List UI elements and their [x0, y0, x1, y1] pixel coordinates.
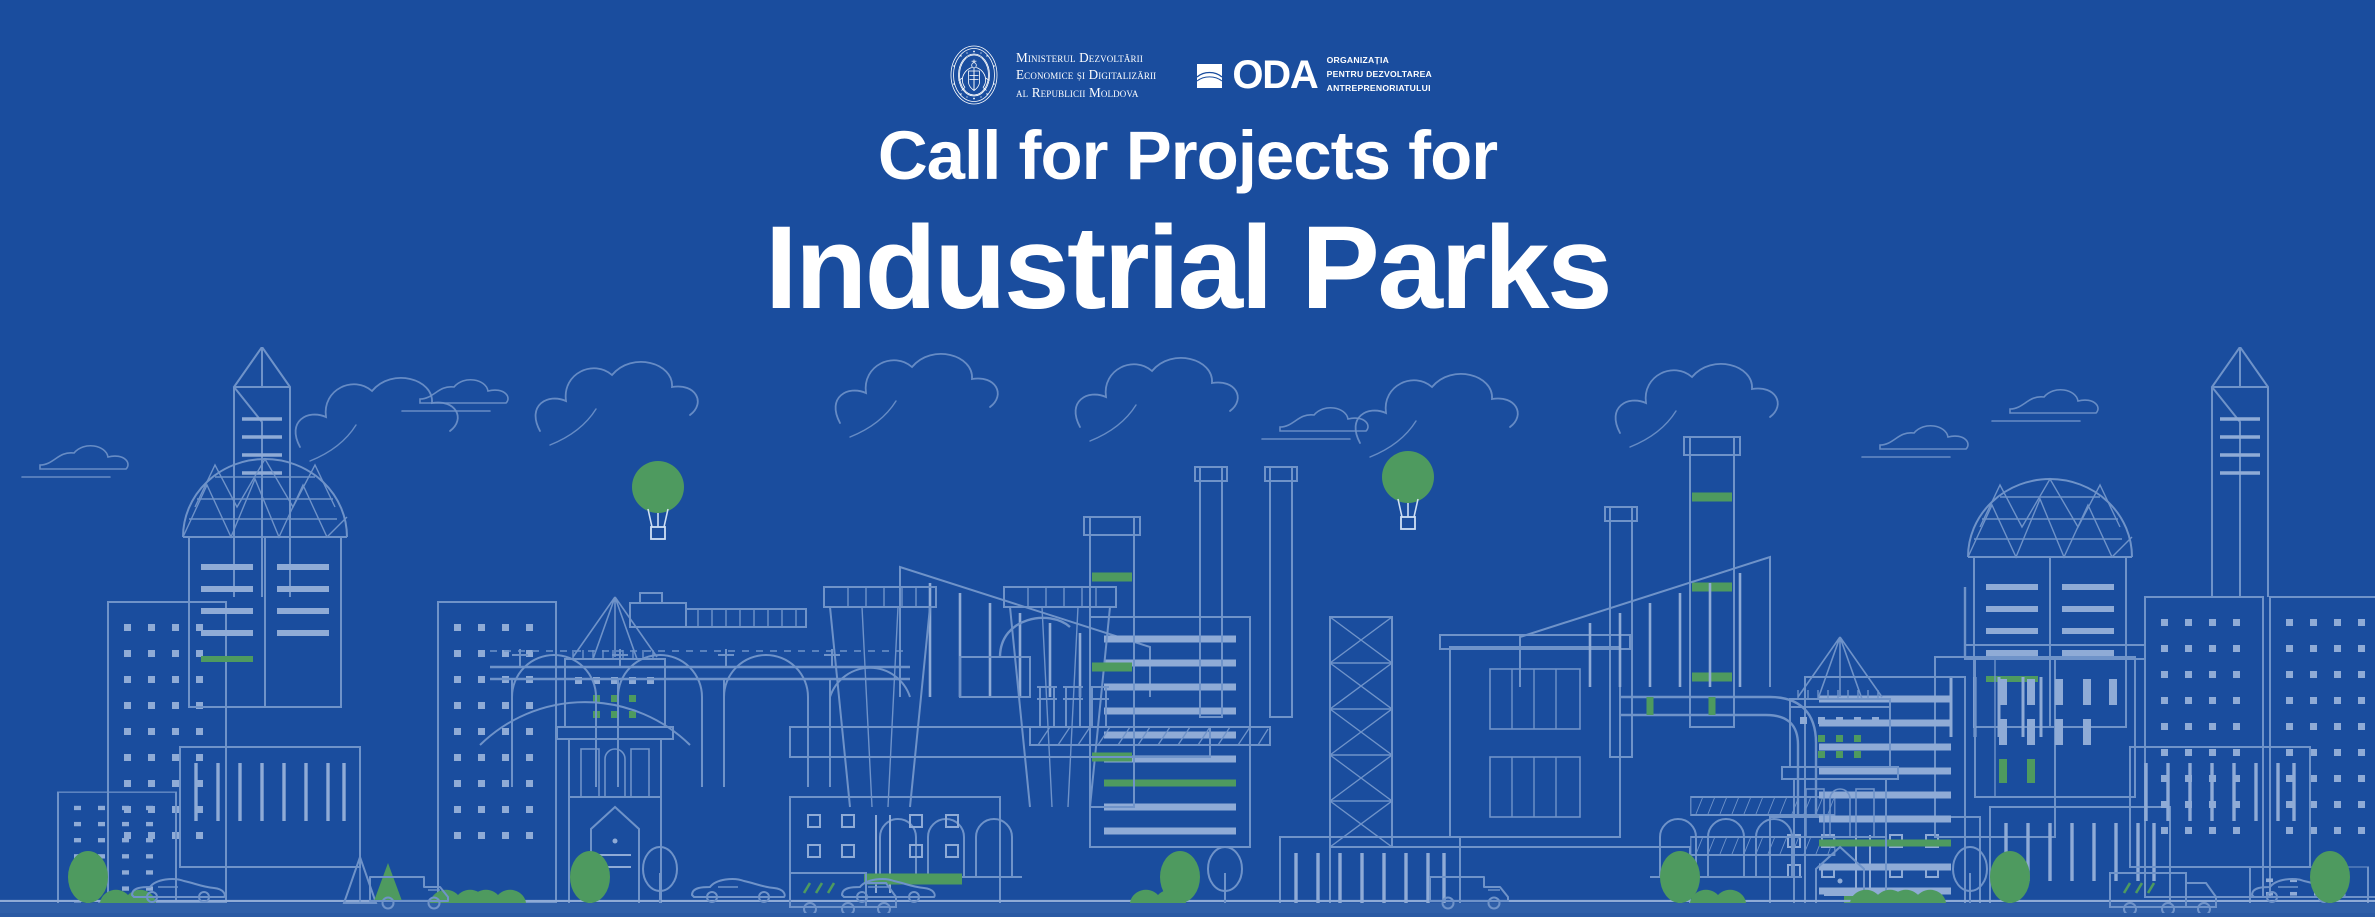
- headline-line-2: Industrial Parks: [0, 202, 2375, 334]
- ministry-line-1: Ministerul Dezvoltării: [1016, 49, 1156, 67]
- industrial-city-skyline-illustration: [0, 347, 2375, 917]
- moldova-state-seal-icon: [943, 44, 1005, 106]
- oda-logo: ODA ORGANIZAȚIA PENTRU DEZVOLTAREA ANTRE…: [1196, 54, 1432, 96]
- headline: Call for Projects for Industrial Parks: [0, 118, 2375, 334]
- oda-tagline-line-2: PENTRU DEZVOLTAREA: [1327, 68, 1432, 82]
- ministry-line-3: al Republicii Moldova: [1016, 84, 1156, 102]
- ministry-line-2: Economice și Digitalizării: [1016, 66, 1156, 84]
- logo-row: Ministerul Dezvoltării Economice și Digi…: [0, 44, 2375, 106]
- oda-mark-wrap: [1196, 60, 1223, 90]
- hero-banner: Ministerul Dezvoltării Economice și Digi…: [0, 0, 2375, 917]
- oda-tagline-line-1: ORGANIZAȚIA: [1327, 54, 1432, 68]
- oda-tagline-line-3: ANTREPRENORIATULUI: [1327, 82, 1432, 96]
- oda-wave-mark-icon: [1196, 60, 1223, 90]
- government-logo: Ministerul Dezvoltării Economice și Digi…: [943, 44, 1156, 106]
- oda-wordmark: ODA: [1232, 58, 1317, 92]
- oda-tagline: ORGANIZAȚIA PENTRU DEZVOLTAREA ANTREPREN…: [1327, 54, 1432, 96]
- ministry-name: Ministerul Dezvoltării Economice și Digi…: [1016, 49, 1156, 102]
- headline-line-1: Call for Projects for: [0, 118, 2375, 194]
